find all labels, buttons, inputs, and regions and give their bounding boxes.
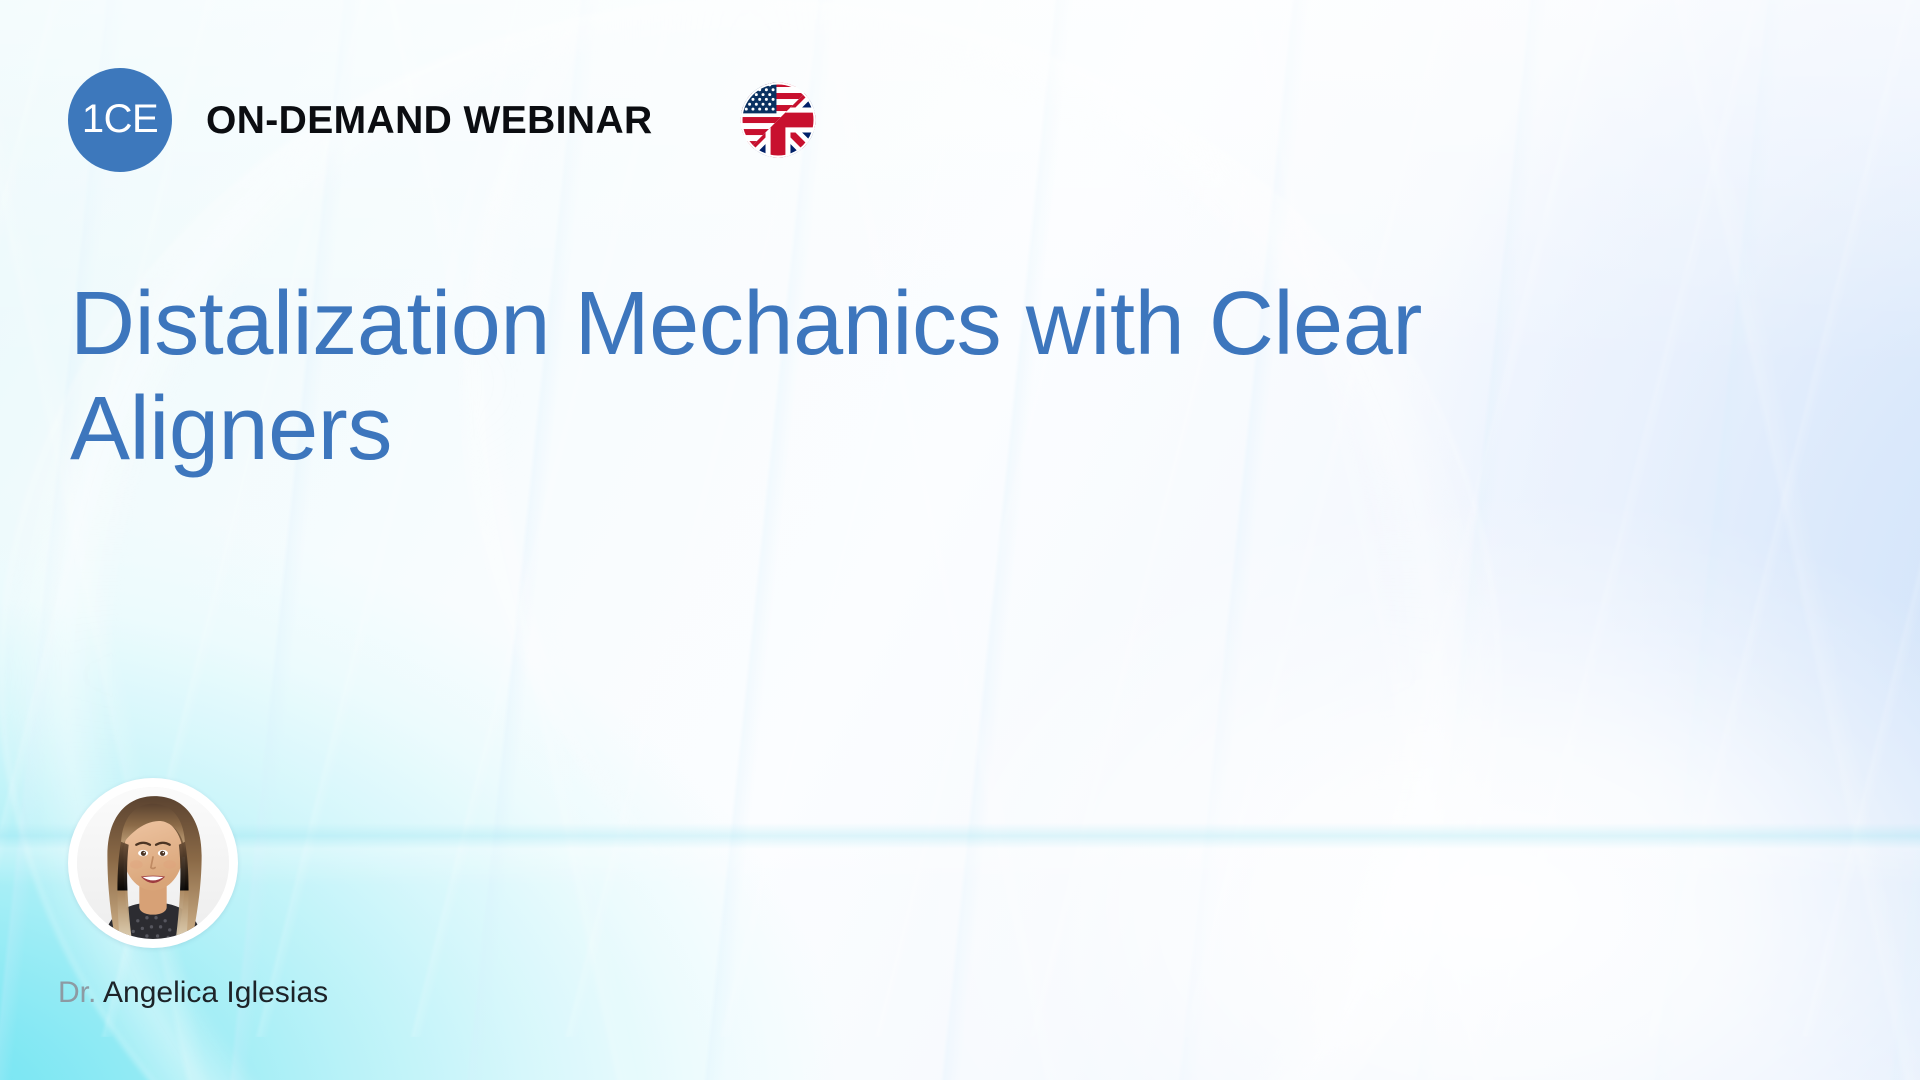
webinar-title: Distalization Mechanics with Clear Align… [70, 272, 1690, 483]
ce-credit-badge: 1CE [68, 68, 172, 172]
webinar-title-card: 1CE ON-DEMAND WEBINAR [0, 0, 1920, 1080]
speaker-name-main: Angelica Iglesias [103, 976, 328, 1009]
ce-credit-badge-label: 1CE [82, 99, 158, 141]
speaker-avatar [68, 778, 238, 948]
us-uk-flag-icon [739, 81, 817, 159]
speaker-name-prefix: Dr. [58, 976, 103, 1009]
speaker-block: Dr. Angelica Iglesias [68, 778, 238, 948]
webinar-kicker-label: ON-DEMAND WEBINAR [206, 101, 653, 140]
header-row: 1CE ON-DEMAND WEBINAR [68, 68, 817, 172]
webinar-title-line-2: Aligners [70, 377, 1690, 482]
speaker-name: Dr. Angelica Iglesias [58, 978, 328, 1008]
speaker-avatar-image [77, 787, 229, 939]
webinar-title-line-1: Distalization Mechanics with Clear [70, 272, 1690, 377]
